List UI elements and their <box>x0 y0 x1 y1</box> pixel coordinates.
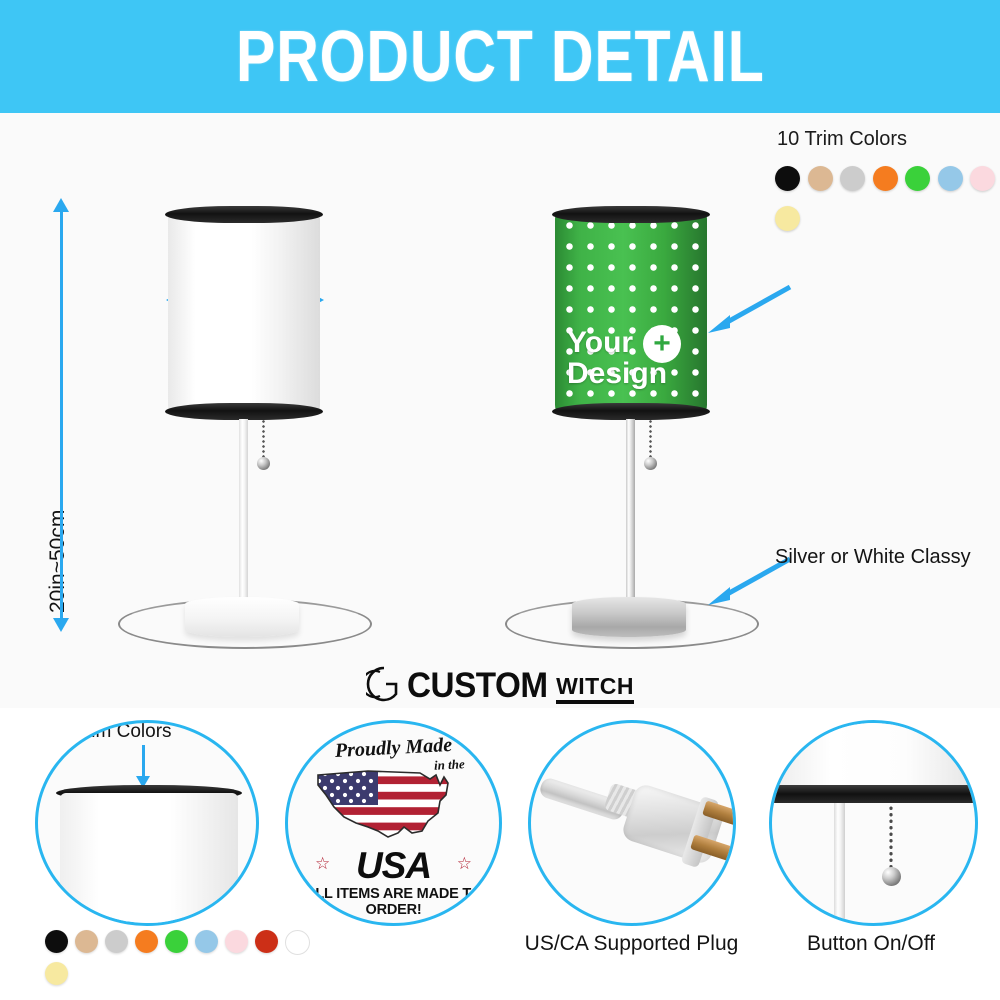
main-panel: 10 Trim Colors 7in~18cm 20in~50cm <box>0 113 1000 708</box>
lampshade-white-surface <box>168 211 320 413</box>
lamp-stem-white <box>239 419 248 614</box>
lamp-base-silver <box>572 597 686 637</box>
swatch-gray[interactable] <box>840 166 865 191</box>
bottom-swatch-light-blue[interactable] <box>195 930 218 953</box>
bottom-swatch-orange[interactable] <box>135 930 158 953</box>
logo-witch-text: WITCH <box>556 674 634 699</box>
feature-plug: US/CA Supported Plug <box>520 720 750 970</box>
lampshade-white <box>168 211 320 413</box>
swatch-light-blue[interactable] <box>938 166 963 191</box>
shade-body-closeup <box>60 793 238 923</box>
feature-plug-circle <box>528 720 736 926</box>
usa-map-flag-icon <box>312 761 462 846</box>
lampshade-green: Your Design + <box>555 211 707 413</box>
bottom-swatch-pale-yellow[interactable] <box>45 962 68 985</box>
lamp-base-white <box>185 597 299 637</box>
lamp-white <box>0 113 420 673</box>
brand-logo: CUSTOM WITCH <box>0 660 1000 708</box>
shade-trim-bottom-green <box>552 403 710 420</box>
usa-badge-subtext: ALL ITEMS ARE MADE TO ORDER! <box>288 886 499 918</box>
logo-underline <box>556 700 634 704</box>
pull-chain-ball-white[interactable] <box>257 457 270 470</box>
lamp-stem-closeup <box>834 803 845 926</box>
bottom-swatch-pink[interactable] <box>225 930 248 953</box>
swatch-pink[interactable] <box>970 166 995 191</box>
header-banner: PRODUCT DETAIL <box>0 0 1000 113</box>
swatch-orange[interactable] <box>873 166 898 191</box>
pull-chain-closeup[interactable] <box>889 805 893 871</box>
pull-chain-ball-closeup[interactable] <box>882 867 901 886</box>
logo-c-icon <box>366 664 406 704</box>
feature-button-label: Button On/Off <box>761 932 981 956</box>
shade-bottom-closeup <box>769 720 978 793</box>
shade-trim-top-white <box>165 206 323 223</box>
pull-chain-green[interactable] <box>649 419 652 459</box>
logo-custom-text: CUSTOM <box>407 668 548 704</box>
add-design-plus-icon[interactable]: + <box>643 325 681 363</box>
page-title: PRODUCT DETAIL <box>236 16 765 98</box>
swatch-green[interactable] <box>905 166 930 191</box>
bottom-swatch-green[interactable] <box>165 930 188 953</box>
feature-trim-colors: 10 Trim Colors <box>35 720 260 1000</box>
bottom-swatch-gray[interactable] <box>105 930 128 953</box>
usa-star-right-icon: ☆ <box>457 854 472 874</box>
feature-button: Button On/Off <box>765 720 980 970</box>
bottom-swatch-black[interactable] <box>45 930 68 953</box>
bottom-swatch-row-2 <box>45 962 310 985</box>
feature-button-circle <box>769 720 978 926</box>
feature-plug-label: US/CA Supported Plug <box>504 932 759 956</box>
pull-chain-ball-green[interactable] <box>644 457 657 470</box>
bottom-swatch-red[interactable] <box>255 930 278 953</box>
bottom-swatch-tan[interactable] <box>75 930 98 953</box>
bottom-trim-swatches <box>45 930 310 985</box>
trim-callout-arrow <box>700 281 796 337</box>
bottom-swatch-row-1 <box>45 930 310 955</box>
feature-trim-colors-label: 10 Trim Colors <box>48 721 172 743</box>
shade-trim-bottom-white <box>165 403 323 420</box>
base-callout-label: Silver or White Classy <box>775 546 971 569</box>
feature-made-in-usa: Proudly Made in the <box>285 720 505 935</box>
lamp-stem-silver <box>626 419 635 614</box>
feature-made-in-usa-circle: Proudly Made in the <box>285 720 502 926</box>
product-detail-infographic: PRODUCT DETAIL 10 Trim Colors 7in~18cm <box>0 0 1000 1000</box>
design-line-1: Your <box>567 326 633 359</box>
feature-strip: 10 Trim Colors <box>0 708 1000 1000</box>
shade-trim-top-green <box>552 206 710 223</box>
shade-trim-bottom-closeup <box>769 785 978 803</box>
design-line-2: Design <box>567 357 667 390</box>
pull-chain-white[interactable] <box>262 419 265 459</box>
feature-trim-colors-circle: 10 Trim Colors <box>35 720 259 926</box>
trim-down-arrow-icon <box>142 745 145 777</box>
